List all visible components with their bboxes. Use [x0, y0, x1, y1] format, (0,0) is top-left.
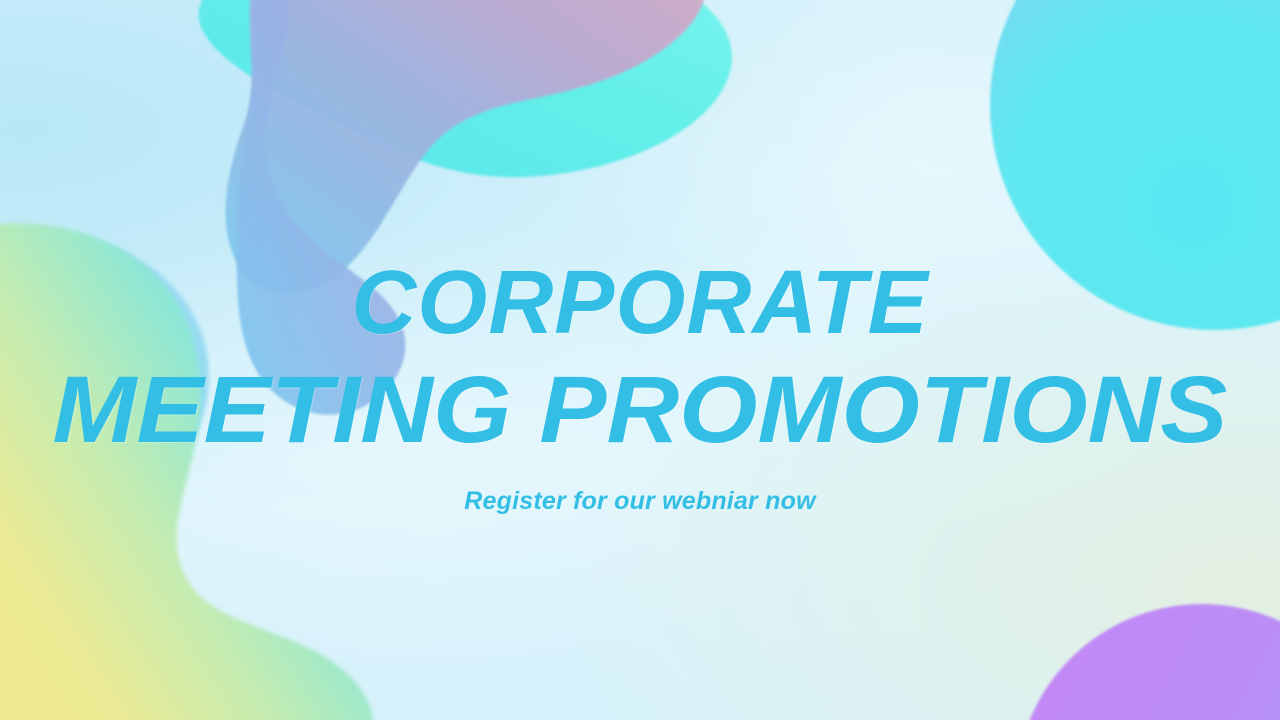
headline-line-1: CORPORATE	[0, 258, 1280, 348]
promo-poster: CORPORATE MEETING PROMOTIONS Register fo…	[0, 0, 1280, 720]
subheadline: Register for our webniar now	[0, 489, 1280, 514]
headline-line-2: MEETING PROMOTIONS	[0, 363, 1280, 458]
text-content: CORPORATE MEETING PROMOTIONS Register fo…	[0, 0, 1280, 720]
